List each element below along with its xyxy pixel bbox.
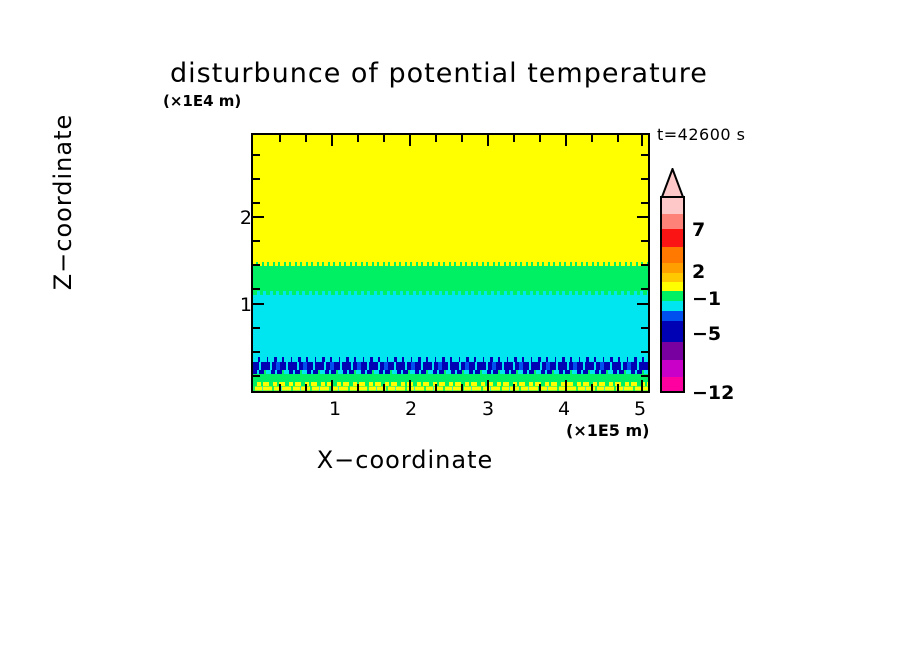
colorbar-band-12	[662, 342, 683, 360]
colorbar-band-9	[662, 301, 683, 311]
layer-lower-yellow-speckled	[253, 386, 648, 393]
colorbar-band-1	[662, 198, 683, 214]
x-tick-label: 1	[320, 398, 350, 420]
colorbar-band-2	[662, 214, 683, 229]
colorbar-band-10	[662, 311, 683, 321]
y-axis-title-text: Z−coordinate	[49, 114, 77, 291]
layer-green	[253, 266, 648, 293]
x-axis-unit-label: (×1E5 m)	[566, 421, 649, 440]
contour-plot-area	[251, 133, 650, 393]
y-tick-label: 1	[222, 294, 252, 316]
colorbar-tick-label: −5	[692, 323, 721, 345]
y-tick-label: 2	[222, 207, 252, 229]
x-tick-label: 2	[396, 398, 426, 420]
colorbar-band-3	[662, 229, 683, 247]
x-tick-label: 4	[549, 398, 579, 420]
z-axis-unit-label: (×1E4 m)	[163, 92, 241, 110]
x-axis-title-text: X−coordinate	[317, 446, 494, 474]
colorbar-band-5	[662, 263, 683, 273]
layer-upper-yellow	[253, 135, 648, 264]
layer-noise-blue	[253, 362, 648, 370]
colorbar-band-13	[662, 360, 683, 377]
colorbar-band-14	[662, 377, 683, 393]
layer-cyan	[253, 295, 648, 361]
colorbar-band-8	[662, 291, 683, 301]
colorbar-tick-label: 7	[692, 219, 705, 241]
colorbar-band-7	[662, 282, 683, 291]
colorbar-band-6	[662, 273, 683, 282]
colorbar	[660, 196, 685, 393]
colorbar-band-4	[662, 247, 683, 263]
colorbar-arrow-top	[658, 168, 687, 198]
x-tick-label: 3	[473, 398, 503, 420]
chart-title: disturbunce of potential temperature	[170, 58, 770, 89]
x-axis-title: X−coordinate	[0, 446, 904, 474]
colorbar-tick-label: −12	[692, 382, 734, 404]
y-axis-title: Z−coordinate	[0, 0, 23, 160]
colorbar-tick-label: 2	[692, 261, 705, 283]
colorbar-band-11	[662, 321, 683, 342]
x-tick-label: 5	[625, 398, 655, 420]
colorbar-tick-label: −1	[692, 288, 721, 310]
figure-canvas: disturbunce of potential temperature (×1…	[0, 0, 904, 654]
time-annotation: t=42600 s	[657, 125, 746, 144]
